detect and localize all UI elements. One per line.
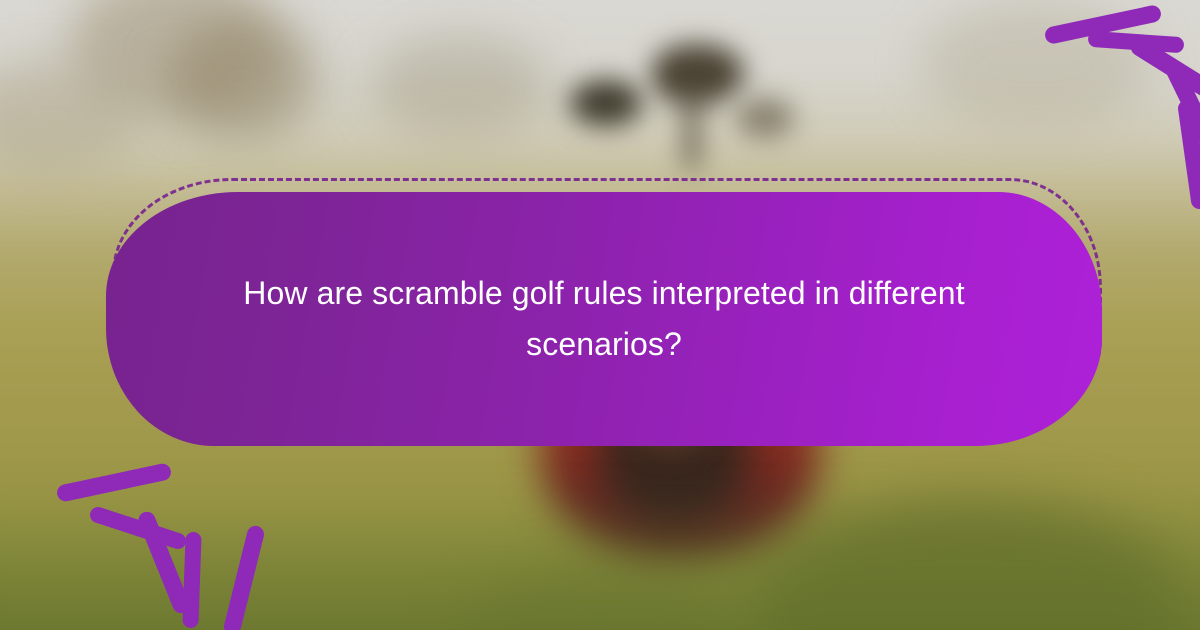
- sparkle-stroke: [182, 532, 201, 628]
- question-text: How are scramble golf rules interpreted …: [224, 268, 984, 369]
- share-card-canvas: How are scramble golf rules interpreted …: [0, 0, 1200, 630]
- question-card: How are scramble golf rules interpreted …: [106, 192, 1102, 446]
